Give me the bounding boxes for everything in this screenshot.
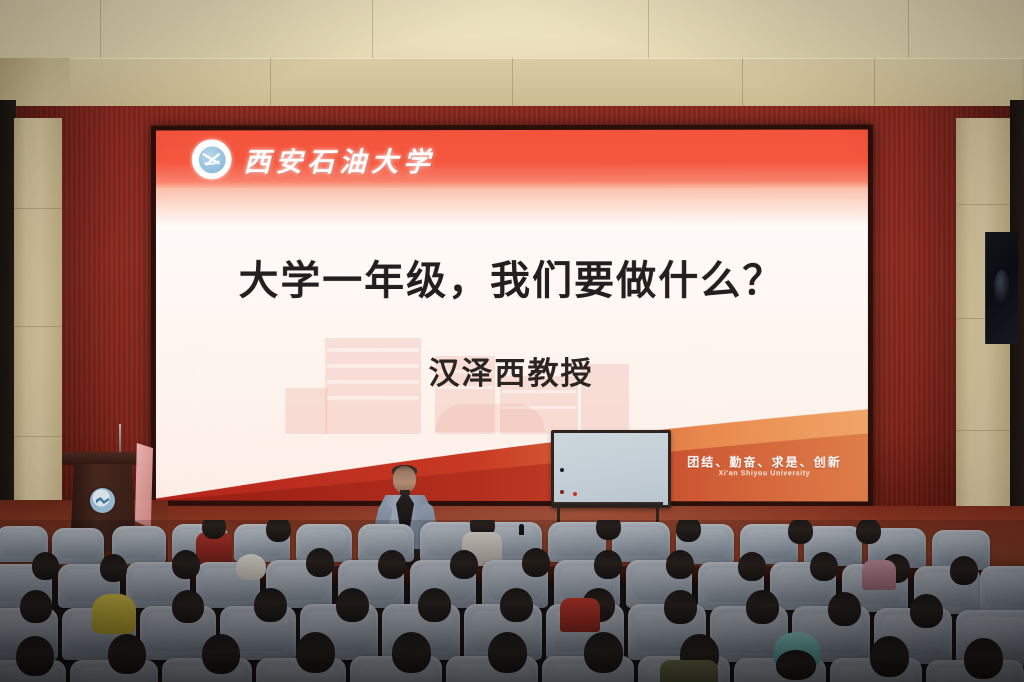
attendee-head bbox=[254, 588, 287, 622]
attendee-yellow-hood bbox=[92, 594, 136, 634]
slide-footer-swoosh bbox=[156, 381, 868, 502]
attendee-head bbox=[664, 590, 697, 624]
attendee-head bbox=[296, 632, 335, 673]
attendee-head bbox=[108, 634, 146, 674]
attendee-head bbox=[964, 638, 1003, 679]
speaker-head bbox=[393, 466, 416, 493]
attendee-pink-top bbox=[862, 560, 896, 590]
attendee-head bbox=[16, 636, 54, 676]
attendee-head bbox=[306, 548, 334, 577]
attendee-head bbox=[32, 552, 59, 580]
left-stone-pilaster bbox=[14, 118, 62, 538]
presentation-slide: 西安石油大学 大学一年级，我们要做什么？ 汉泽西教授 bbox=[156, 130, 868, 502]
attendee-head bbox=[596, 520, 621, 540]
attendee-red-top bbox=[560, 598, 600, 632]
attendee-head bbox=[676, 520, 701, 542]
attendee-head bbox=[522, 548, 550, 577]
attendee-head bbox=[450, 550, 478, 579]
lecture-hall-photo: 西安石油大学 大学一年级，我们要做什么？ 汉泽西教授 bbox=[0, 0, 1024, 682]
attendee-head bbox=[746, 590, 779, 624]
attendee-white-hair-bow bbox=[236, 554, 266, 580]
auditorium-seat bbox=[980, 566, 1024, 614]
draped-cloth bbox=[135, 443, 153, 528]
attendee-head bbox=[392, 632, 431, 673]
whiteboard-tray bbox=[553, 502, 663, 506]
slide-header-gradient bbox=[156, 188, 868, 227]
attendee-head bbox=[488, 632, 527, 673]
attendee-head bbox=[378, 550, 406, 579]
university-seal-icon bbox=[90, 488, 115, 513]
whiteboard-magnet-icon bbox=[560, 468, 564, 472]
motto-chinese: 团结、勤奋、求是、创新 bbox=[687, 456, 842, 469]
attendee-head bbox=[266, 520, 291, 542]
attendee-head bbox=[584, 632, 623, 673]
attendee-head bbox=[870, 636, 909, 677]
projection-screen-frame: 西安石油大学 大学一年级，我们要做什么？ 汉泽西教授 bbox=[151, 124, 873, 506]
slide-motto: 团结、勤奋、求是、创新 Xi'an Shiyou University bbox=[687, 456, 842, 477]
attendee-head bbox=[788, 520, 813, 544]
whiteboard-magnet-icon bbox=[560, 490, 564, 494]
attendee-head bbox=[20, 590, 52, 623]
university-name-text: 西安石油大学 bbox=[244, 140, 435, 179]
slide-title: 大学一年级，我们要做什么？ bbox=[156, 248, 868, 306]
phone-recording-icon bbox=[519, 524, 524, 535]
microphone-stand bbox=[119, 424, 121, 454]
attendee-head bbox=[202, 634, 240, 674]
attendee-head bbox=[172, 550, 200, 579]
whiteboard-marker-icon bbox=[573, 492, 577, 496]
auditorium-seat bbox=[52, 528, 104, 564]
motto-english: Xi'an Shiyou University bbox=[687, 470, 842, 478]
whiteboard-surface bbox=[551, 430, 671, 508]
attendee-head bbox=[202, 520, 226, 539]
attendee-head bbox=[100, 554, 127, 582]
attendee-head bbox=[418, 588, 451, 622]
attendee-head bbox=[172, 590, 204, 623]
attendee-head bbox=[336, 588, 369, 622]
audience-area bbox=[0, 520, 1024, 682]
attendee-head bbox=[666, 550, 694, 579]
attendee-head bbox=[856, 520, 881, 544]
attendee-head bbox=[594, 550, 622, 579]
attendee-head bbox=[950, 556, 978, 585]
university-crest-icon bbox=[192, 139, 232, 179]
attendee-head bbox=[828, 592, 861, 626]
attendee-head bbox=[810, 552, 838, 581]
wall-loudspeaker bbox=[985, 232, 1018, 344]
attendee-olive-jacket bbox=[660, 660, 718, 682]
attendee-head bbox=[776, 650, 816, 680]
whiteboard bbox=[551, 430, 665, 530]
attendee-head bbox=[910, 594, 943, 628]
attendee-head bbox=[738, 552, 766, 581]
lectern-top bbox=[62, 452, 144, 465]
attendee-head bbox=[500, 588, 533, 622]
